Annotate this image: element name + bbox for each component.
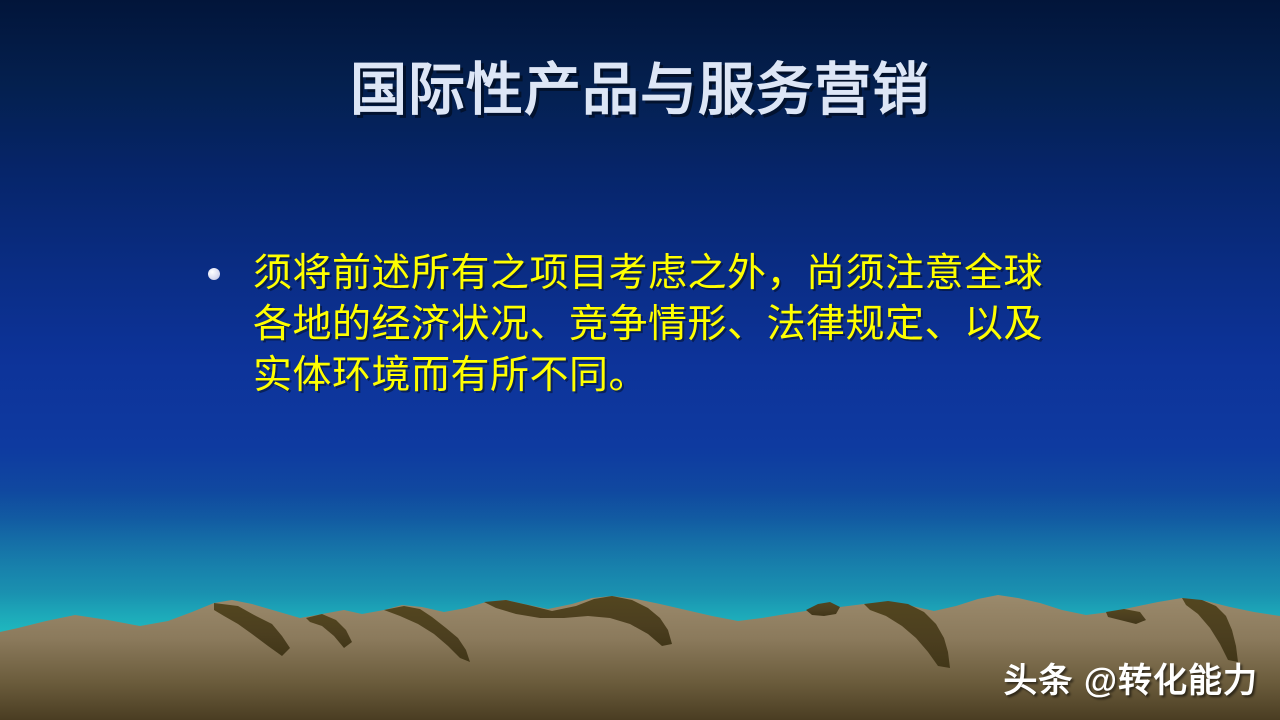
bullet-dot-icon (208, 268, 220, 280)
slide-body: 须将前述所有之项目考虑之外，尚须注意全球各地的经济状况、竞争情形、法律规定、以及… (208, 248, 1058, 401)
slide-title: 国际性产品与服务营销 (0, 44, 1280, 126)
list-item: 须将前述所有之项目考虑之外，尚须注意全球各地的经济状况、竞争情形、法律规定、以及… (208, 248, 1058, 401)
bullet-text: 须将前述所有之项目考虑之外，尚须注意全球各地的经济状况、竞争情形、法律规定、以及… (253, 248, 1058, 401)
watermark: 头条 @转化能力 (1003, 653, 1258, 702)
presentation-slide: 国际性产品与服务营销 须将前述所有之项目考虑之外，尚须注意全球各地的经济状况、竞… (0, 0, 1280, 720)
